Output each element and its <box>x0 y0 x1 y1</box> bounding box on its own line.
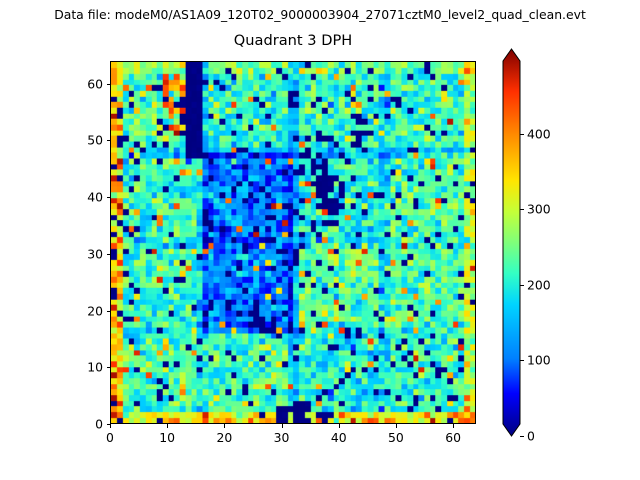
x-tick-mark <box>224 424 225 428</box>
y-tick-label: 60 <box>70 76 103 91</box>
colorbar-tick-mark <box>520 285 524 286</box>
colorbar-tick-label: 0 <box>527 429 535 444</box>
x-tick-mark <box>453 424 454 428</box>
x-tick-label: 30 <box>274 430 290 445</box>
heatmap-axes[interactable] <box>110 61 476 424</box>
x-tick-label: 50 <box>388 430 404 445</box>
x-tick-mark <box>167 424 168 428</box>
x-tick-mark <box>339 424 340 428</box>
colorbar-tick-mark <box>520 360 524 361</box>
x-tick-mark <box>110 424 111 428</box>
x-tick-label: 20 <box>216 430 232 445</box>
x-tick-label: 10 <box>159 430 175 445</box>
y-tick-mark <box>107 84 111 85</box>
y-tick-mark <box>107 140 111 141</box>
y-tick-label: 0 <box>70 417 103 432</box>
y-tick-label: 20 <box>70 303 103 318</box>
y-tick-mark <box>107 254 111 255</box>
x-tick-label: 0 <box>106 430 114 445</box>
colorbar-tick-label: 200 <box>527 277 551 292</box>
x-tick-label: 40 <box>331 430 347 445</box>
dph-heatmap-image[interactable] <box>111 62 475 423</box>
colorbar[interactable] <box>503 61 520 424</box>
colorbar-gradient <box>502 49 521 436</box>
colorbar-tick-label: 100 <box>527 353 551 368</box>
colorbar-tick-mark <box>520 436 524 437</box>
y-tick-label: 30 <box>70 246 103 261</box>
y-tick-label: 50 <box>70 133 103 148</box>
data-file-suptitle: Data file: modeM0/AS1A09_120T02_90000039… <box>0 7 640 22</box>
y-tick-mark <box>107 197 111 198</box>
y-tick-mark <box>107 424 111 425</box>
colorbar-tick-label: 400 <box>527 126 551 141</box>
y-tick-label: 10 <box>70 360 103 375</box>
y-tick-mark <box>107 311 111 312</box>
y-tick-label: 40 <box>70 190 103 205</box>
colorbar-tick-mark <box>520 209 524 210</box>
colorbar-tick-mark <box>520 134 524 135</box>
x-tick-mark <box>282 424 283 428</box>
figure-canvas: Data file: modeM0/AS1A09_120T02_90000039… <box>0 0 640 480</box>
x-tick-label: 60 <box>445 430 461 445</box>
plot-title: Quadrant 3 DPH <box>110 32 476 49</box>
colorbar-tick-label: 300 <box>527 202 551 217</box>
y-tick-mark <box>107 367 111 368</box>
x-tick-mark <box>396 424 397 428</box>
